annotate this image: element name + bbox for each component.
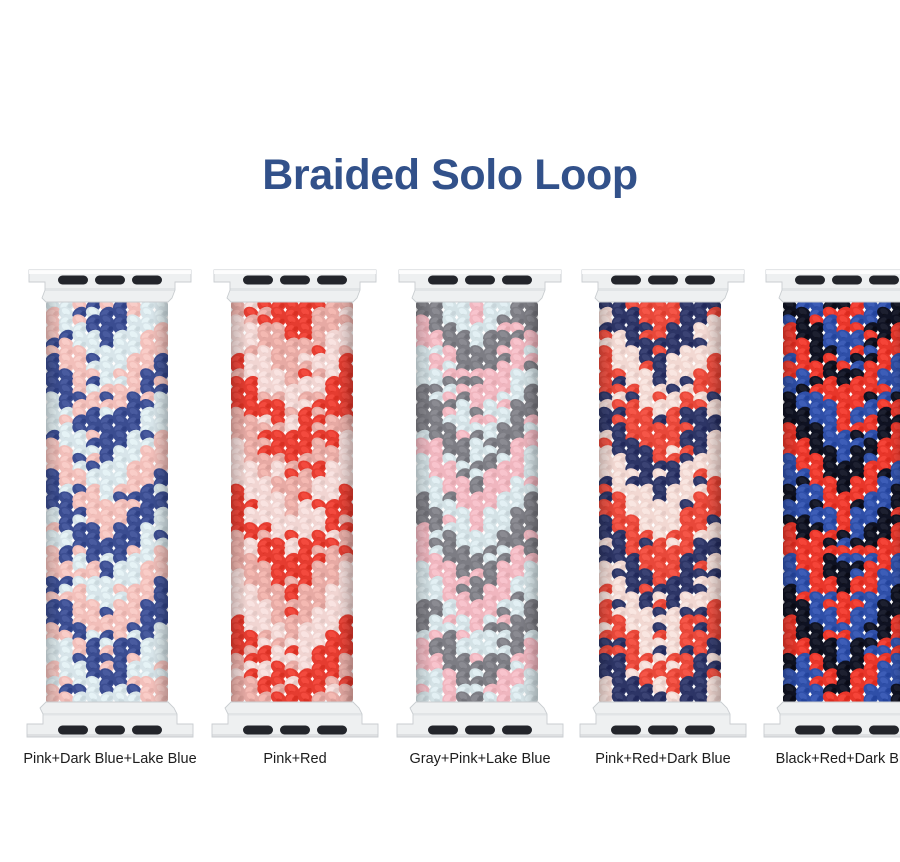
top-connector [399, 270, 561, 302]
band-color-label: Gray+Pink+Lake Blue [375, 750, 585, 769]
braid-weave [413, 296, 542, 708]
top-connector [29, 270, 191, 302]
braid-weave [228, 296, 357, 708]
band-color-label: Pink+Dark Blue+Lake Blue [5, 750, 215, 769]
braid-weave [43, 296, 172, 708]
braided-band-image[interactable] [578, 268, 748, 740]
top-connector [582, 270, 744, 302]
braid-weave [780, 296, 900, 708]
band-gallery: Pink+Dark Blue+Lake BluePink+RedGray+Pin… [0, 0, 900, 862]
band-color-label: Pink+Red+Dark Blue [558, 750, 768, 769]
braided-band-image[interactable] [210, 268, 380, 740]
band-color-label: Pink+Red [190, 750, 400, 769]
braided-band-image[interactable] [25, 268, 195, 740]
braided-band-image[interactable] [762, 268, 900, 740]
bottom-connector [212, 702, 378, 737]
band-card-1[interactable]: Pink+Dark Blue+Lake Blue [25, 268, 195, 778]
product-image-canvas: Braided Solo Loop Pink+Dark Blue+Lake Bl… [0, 0, 900, 862]
bottom-connector [580, 702, 746, 737]
top-connector [214, 270, 376, 302]
band-card-3[interactable]: Gray+Pink+Lake Blue [395, 268, 565, 778]
band-card-5[interactable]: Black+Red+Dark Blue [762, 268, 900, 778]
top-connector [766, 270, 900, 302]
band-card-2[interactable]: Pink+Red [210, 268, 380, 778]
bottom-connector [764, 702, 900, 737]
braided-band-image[interactable] [395, 268, 565, 740]
band-card-4[interactable]: Pink+Red+Dark Blue [578, 268, 748, 778]
braid-weave [596, 296, 725, 708]
bottom-connector [397, 702, 563, 737]
band-color-label: Black+Red+Dark Blue [742, 750, 900, 769]
bottom-connector [27, 702, 193, 737]
